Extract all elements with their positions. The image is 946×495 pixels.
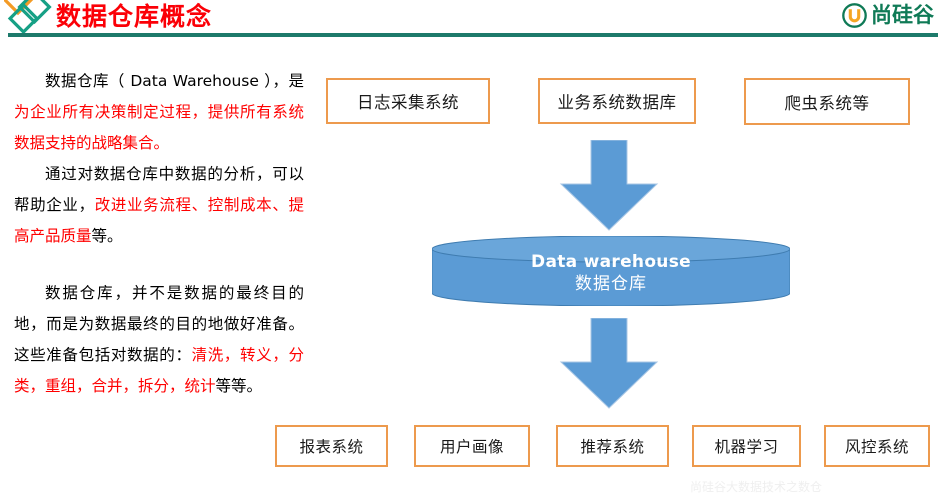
brand-logo: 尚硅谷 [842,3,934,28]
warehouse-label-cn: 数据仓库 [575,273,647,295]
diamond-logo-icon [4,0,56,36]
footer-watermark: 尚硅谷大数据技术之数仓 [690,478,940,495]
source-box-log-collection[interactable]: 日志采集系统 [326,78,490,124]
page-title: 数据仓库概念 [56,1,212,32]
output-box-risk-control[interactable]: 风控系统 [824,425,930,467]
brand-name: 尚硅谷 [871,3,934,28]
paragraph-definition: 数据仓库（ Data Warehouse ），是为企业所有决策制定过程，提供所有… [14,66,304,159]
u-mark-icon [842,3,867,28]
output-box-machine-learning[interactable]: 机器学习 [692,425,801,467]
left-text-column: 数据仓库（ Data Warehouse ），是为企业所有决策制定过程，提供所有… [14,66,304,402]
paragraph-benefit: 通过对数据仓库中数据的分析，可以帮助企业，改进业务流程、控制成本、提高产品质量等… [14,159,304,252]
paragraph-definition-part1: 数据仓库（ Data Warehouse ），是 [45,72,304,90]
paragraph-spacer [14,252,304,278]
header-divider [8,33,938,37]
arrow-down-icon-serve [553,318,665,410]
source-box-crawler[interactable]: 爬虫系统等 [744,78,910,125]
paragraph-benefit-part3: 等。 [92,227,123,245]
paragraph-purpose-part3: 等等。 [216,377,263,395]
paragraph-definition-highlight: 为企业所有决策制定过程，提供所有系统数据支持的战略集合。 [14,103,304,152]
arrow-down-icon-ingest [553,140,665,232]
output-box-report-system[interactable]: 报表系统 [275,425,388,467]
output-box-recommendation[interactable]: 推荐系统 [556,425,669,467]
warehouse-label-en: Data warehouse [531,251,691,273]
paragraph-purpose: 数据仓库，并不是数据的最终目的地，而是为数据最终的目的地做好准备。这些准备包括对… [14,278,304,402]
slide-header: 数据仓库概念 尚硅谷 [0,0,946,40]
output-box-user-profile[interactable]: 用户画像 [414,425,530,467]
data-warehouse-cylinder[interactable]: Data warehouse 数据仓库 [432,236,790,306]
source-box-business-db[interactable]: 业务系统数据库 [538,78,696,124]
data-warehouse-label: Data warehouse 数据仓库 [432,236,790,306]
